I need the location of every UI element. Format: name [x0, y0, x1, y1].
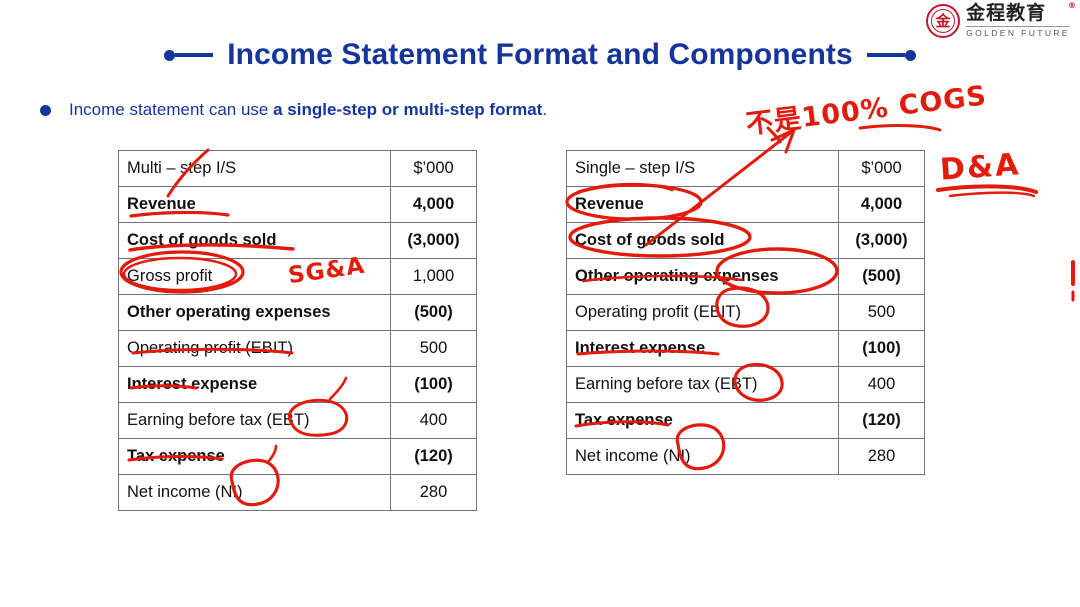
row-label: Earning before tax (EBT)	[567, 367, 839, 403]
table-header-units: $’000	[391, 151, 477, 187]
table-row: Cost of goods sold(3,000)	[119, 223, 477, 259]
slide-canvas: 金 金程教育® GOLDEN FUTURE Income Statement F…	[0, 0, 1080, 607]
table-row: Net income (NI)280	[567, 439, 925, 475]
multi-step-income-statement-table: Multi – step I/S$’000Revenue4,000Cost of…	[118, 150, 477, 511]
row-label: Other operating expenses	[119, 295, 391, 331]
row-value: 4,000	[391, 187, 477, 223]
seal-glyph: 金	[936, 14, 951, 29]
table-row: Net income (NI)280	[119, 475, 477, 511]
seal-icon: 金	[926, 4, 960, 38]
table-row: Tax expense(120)	[119, 439, 477, 475]
row-label: Net income (NI)	[567, 439, 839, 475]
bullet-text: Income statement can use a single-step o…	[69, 100, 547, 120]
ink-underline-note-da-2	[950, 193, 1034, 196]
single-step-income-statement-table: Single – step I/S$’000Revenue4,000Cost o…	[566, 150, 925, 475]
row-label: Tax expense	[567, 403, 839, 439]
table-header-row: Single – step I/S$’000	[567, 151, 925, 187]
bullet-text-end: .	[542, 100, 547, 119]
ink-underline-note-da	[938, 186, 1036, 192]
row-label: Revenue	[119, 187, 391, 223]
slide-title-row: Income Statement Format and Components	[0, 38, 1080, 72]
table-row: Tax expense(120)	[567, 403, 925, 439]
table-row: Revenue4,000	[119, 187, 477, 223]
title-decoration-right-icon	[867, 50, 916, 61]
multi-step-table-body: Multi – step I/S$’000Revenue4,000Cost of…	[119, 151, 477, 511]
table-header-units: $’000	[839, 151, 925, 187]
row-value: (500)	[391, 295, 477, 331]
row-value: 280	[839, 439, 925, 475]
table-header-row: Multi – step I/S$’000	[119, 151, 477, 187]
brand-logo: 金 金程教育® GOLDEN FUTURE	[926, 4, 1070, 38]
table-row: Interest expense(100)	[119, 367, 477, 403]
table-row: Earning before tax (EBT)400	[567, 367, 925, 403]
logo-name-en: GOLDEN FUTURE	[966, 26, 1070, 38]
bullet-dot-icon	[40, 105, 51, 116]
row-label: Other operating expenses	[567, 259, 839, 295]
page-title: Income Statement Format and Components	[227, 38, 853, 72]
annotation-cogs-note: 不是100% COGS	[744, 73, 989, 141]
table-header-label: Single – step I/S	[567, 151, 839, 187]
table-row: Revenue4,000	[567, 187, 925, 223]
row-label: Operating profit (EBIT)	[119, 331, 391, 367]
row-value: (120)	[391, 439, 477, 475]
logo-name-cn: 金程教育®	[966, 4, 1070, 23]
single-step-table-body: Single – step I/S$’000Revenue4,000Cost o…	[567, 151, 925, 475]
table-header-label: Multi – step I/S	[119, 151, 391, 187]
title-decoration-left-icon	[164, 50, 213, 61]
registered-mark: ®	[1068, 2, 1077, 10]
row-value: 500	[391, 331, 477, 367]
row-value: 280	[391, 475, 477, 511]
row-value: (3,000)	[839, 223, 925, 259]
row-value: (500)	[839, 259, 925, 295]
row-value: 1,000	[391, 259, 477, 295]
bullet-text-plain: Income statement can use	[69, 100, 273, 119]
row-label: Revenue	[567, 187, 839, 223]
table-row: Earning before tax (EBT)400	[119, 403, 477, 439]
table-row: Interest expense(100)	[567, 331, 925, 367]
bullet-item: Income statement can use a single-step o…	[40, 100, 547, 120]
table-row: Other operating expenses(500)	[119, 295, 477, 331]
table-row: Operating profit (EBIT)500	[119, 331, 477, 367]
row-label: Operating profit (EBIT)	[567, 295, 839, 331]
table-row: Operating profit (EBIT)500	[567, 295, 925, 331]
row-value: 400	[391, 403, 477, 439]
row-label: Cost of goods sold	[567, 223, 839, 259]
row-label: Interest expense	[567, 331, 839, 367]
row-value: 500	[839, 295, 925, 331]
annotation-da-note: D&A	[939, 147, 1022, 188]
row-label: Interest expense	[119, 367, 391, 403]
row-label: Cost of goods sold	[119, 223, 391, 259]
row-label: Tax expense	[119, 439, 391, 475]
row-value: 4,000	[839, 187, 925, 223]
table-row: Cost of goods sold(3,000)	[567, 223, 925, 259]
row-label: Earning before tax (EBT)	[119, 403, 391, 439]
logo-text: 金程教育® GOLDEN FUTURE	[966, 4, 1070, 38]
table-row: Other operating expenses(500)	[567, 259, 925, 295]
row-value: (3,000)	[391, 223, 477, 259]
row-label: Net income (NI)	[119, 475, 391, 511]
row-value: (100)	[391, 367, 477, 403]
row-value: 400	[839, 367, 925, 403]
logo-name-cn-text: 金程教育	[966, 2, 1046, 24]
row-value: (100)	[839, 331, 925, 367]
row-value: (120)	[839, 403, 925, 439]
bullet-text-bold: a single-step or multi-step format	[273, 100, 542, 119]
